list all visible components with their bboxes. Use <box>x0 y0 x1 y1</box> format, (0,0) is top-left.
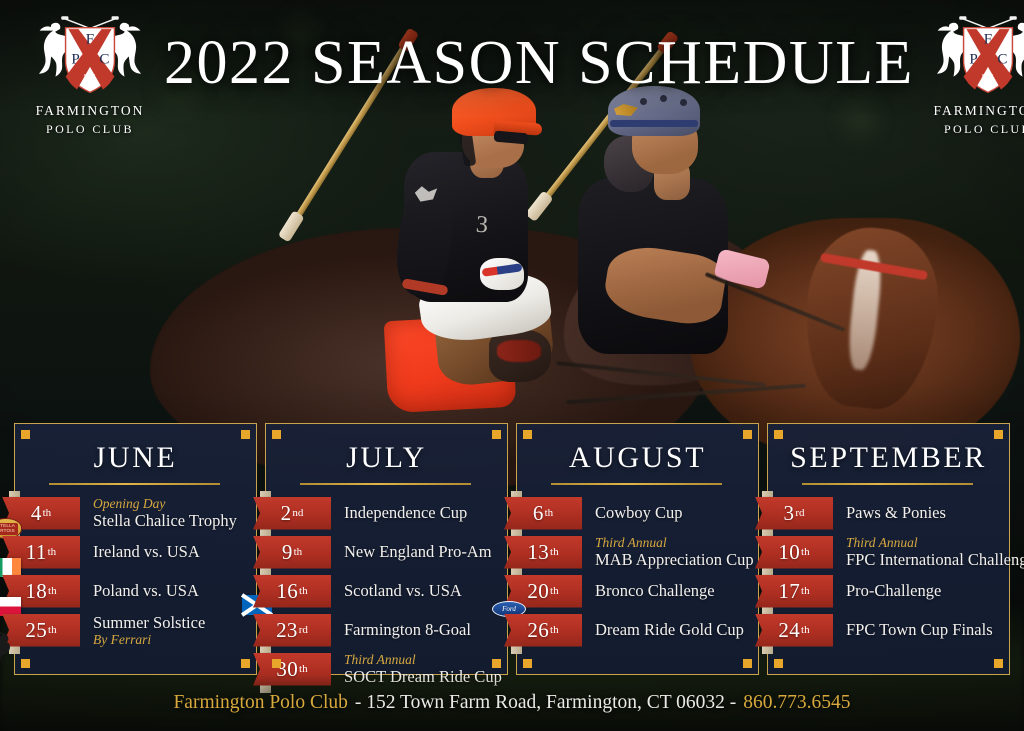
event-row[interactable]: 10thThird AnnualFPC International Challe… <box>768 534 999 570</box>
event-text: Independence Cup <box>331 503 467 522</box>
event-row[interactable]: Ford20thBronco Challenge <box>517 573 748 609</box>
corner-stud-icon <box>272 659 281 668</box>
event-row[interactable]: 3rdPaws & Ponies <box>768 495 999 531</box>
date-ordinal: th <box>43 508 52 519</box>
event-text: Opening DayStella Chalice Trophy <box>80 496 237 531</box>
corner-stud-icon <box>241 430 250 439</box>
event-row[interactable]: 16thScotland vs. USA <box>266 573 497 609</box>
event-text: Pro-Challenge <box>833 581 941 600</box>
date-ordinal: rd <box>299 625 308 636</box>
event-row[interactable]: 17thPro-Challenge <box>768 573 999 609</box>
date-ordinal: th <box>801 547 810 558</box>
date-badge: 26th <box>504 614 582 647</box>
event-text: New England Pro-Am <box>331 542 492 561</box>
date-ordinal: th <box>299 664 308 675</box>
event-row[interactable]: 24thFPC Town Cup Finals <box>768 612 999 648</box>
corner-stud-icon <box>774 659 783 668</box>
fpc-shield-icon: F P C EST 1929 <box>16 9 164 101</box>
event-row[interactable]: 18thPoland vs. USA <box>15 573 246 609</box>
event-row[interactable]: 25thSummer SolsticeBy Ferrari <box>15 612 246 648</box>
date-ordinal: th <box>801 586 810 597</box>
date-badge: 16th <box>253 575 331 608</box>
date-badge: 6th <box>504 497 582 530</box>
date-day: 16 <box>276 581 298 602</box>
event-list: 2ndIndependence Cup9thNew England Pro-Am… <box>266 495 497 687</box>
svg-text:P: P <box>71 52 79 68</box>
footer-club-name: Farmington Polo Club <box>173 692 347 714</box>
event-annual-label: Third Annual <box>846 535 999 550</box>
poster-header: F P C EST 1929 FARMINGTON POLO CLUB 2022… <box>0 0 1024 142</box>
event-row[interactable]: 9thNew England Pro-Am <box>266 534 497 570</box>
date-day: 10 <box>778 542 800 563</box>
event-title: Poland vs. USA <box>93 581 199 600</box>
date-day: 18 <box>25 581 47 602</box>
event-row[interactable]: STELLA ARTOIS4thOpening DayStella Chalic… <box>15 495 246 531</box>
date-day: 6 <box>533 503 544 524</box>
logo-wordmark: FARMINGTON POLO CLUB <box>16 102 164 137</box>
logo-name-line1: FARMINGTON <box>934 103 1024 118</box>
event-title: Cowboy Cup <box>595 503 683 522</box>
event-row[interactable]: 6thCowboy Cup <box>517 495 748 531</box>
date-badge: 23rd <box>253 614 331 647</box>
event-text: Scotland vs. USA <box>331 581 462 600</box>
date-day: 20 <box>527 581 549 602</box>
event-row[interactable]: 26thDream Ride Gold Cup <box>517 612 748 648</box>
corner-stud-icon <box>743 659 752 668</box>
event-text: Poland vs. USA <box>80 581 199 600</box>
event-row[interactable]: 11thIreland vs. USA <box>15 534 246 570</box>
corner-stud-icon <box>241 659 250 668</box>
event-title: Paws & Ponies <box>846 503 946 522</box>
event-title: FPC International Challenge <box>846 550 999 569</box>
event-title: Ireland vs. USA <box>93 542 200 561</box>
corner-stud-icon <box>523 430 532 439</box>
event-annual-label: Third Annual <box>595 535 748 550</box>
date-badge: 3rd <box>755 497 833 530</box>
event-annual-label: Opening Day <box>93 496 237 511</box>
corner-stud-icon <box>743 430 752 439</box>
date-ordinal: th <box>48 625 57 636</box>
logo-left: F P C EST 1929 FARMINGTON POLO CLUB <box>16 9 164 133</box>
date-day: 3 <box>784 503 795 524</box>
date-badge: 9th <box>253 536 331 569</box>
event-title: Pro-Challenge <box>846 581 941 600</box>
event-text: Dream Ride Gold Cup <box>582 620 744 639</box>
date-ordinal: th <box>48 547 57 558</box>
month-divider <box>551 483 722 485</box>
event-text: Ireland vs. USA <box>80 542 200 561</box>
date-badge: 13th <box>504 536 582 569</box>
corner-stud-icon <box>523 659 532 668</box>
logo-wordmark: FARMINGTON POLO CLUB <box>914 102 1024 137</box>
event-row[interactable]: 13thThird AnnualMAB Appreciation Cup <box>517 534 748 570</box>
event-title: Farmington 8-Goal <box>344 620 471 639</box>
event-annual-label: Third Annual <box>344 652 497 667</box>
svg-text:1929: 1929 <box>81 80 98 87</box>
month-heading: SEPTEMBER <box>768 434 999 473</box>
event-title: Independence Cup <box>344 503 467 522</box>
event-title: Summer Solstice <box>93 613 205 632</box>
event-row[interactable]: 2ndIndependence Cup <box>266 495 497 531</box>
event-title: MAB Appreciation Cup <box>595 550 748 569</box>
event-text: Third AnnualMAB Appreciation Cup <box>582 535 748 570</box>
corner-stud-icon <box>21 659 30 668</box>
svg-text:EST: EST <box>84 74 96 80</box>
month-heading: AUGUST <box>517 434 748 473</box>
date-badge: 17th <box>755 575 833 608</box>
corner-stud-icon <box>492 659 501 668</box>
corner-stud-icon <box>492 430 501 439</box>
event-text: Summer SolsticeBy Ferrari <box>80 613 205 648</box>
month-divider <box>300 483 471 485</box>
event-list: STELLA ARTOIS4thOpening DayStella Chalic… <box>15 495 246 648</box>
event-text: Bronco Challenge <box>582 581 715 600</box>
event-text: Cowboy Cup <box>582 503 683 522</box>
date-ordinal: th <box>801 625 810 636</box>
ferrari-logo-icon <box>0 630 15 660</box>
svg-text:C: C <box>99 52 109 68</box>
date-day: 13 <box>527 542 549 563</box>
logo-name-line1: FARMINGTON <box>36 103 145 118</box>
svg-text:F: F <box>984 32 992 48</box>
month-divider <box>802 483 973 485</box>
date-day: 25 <box>25 620 47 641</box>
date-day: 11 <box>26 542 47 563</box>
month-heading: JULY <box>266 434 497 473</box>
logo-name-line2: POLO CLUB <box>914 121 1024 138</box>
date-day: 23 <box>276 620 298 641</box>
event-row[interactable]: 23rdFarmington 8-Goal <box>266 612 497 648</box>
date-ordinal: th <box>299 586 308 597</box>
event-text: Paws & Ponies <box>833 503 946 522</box>
logo-name-line2: POLO CLUB <box>16 121 164 138</box>
footer-address: - 152 Town Farm Road, Farmington, CT 060… <box>355 692 736 714</box>
event-list: 6thCowboy Cup13thThird AnnualMAB Appreci… <box>517 495 748 648</box>
date-ordinal: th <box>550 625 559 636</box>
date-day: 26 <box>527 620 549 641</box>
date-ordinal: nd <box>292 508 303 519</box>
fpc-shield-icon: F P C EST 1929 <box>914 9 1024 101</box>
event-subtitle: By Ferrari <box>93 632 205 647</box>
month-heading: JUNE <box>15 434 246 473</box>
date-day: 24 <box>778 620 800 641</box>
svg-text:C: C <box>997 52 1007 68</box>
event-title: FPC Town Cup Finals <box>846 620 993 639</box>
event-list: 3rdPaws & Ponies10thThird AnnualFPC Inte… <box>768 495 999 648</box>
schedule-panels: JUNESTELLA ARTOIS4thOpening DayStella Ch… <box>14 423 1010 675</box>
corner-stud-icon <box>994 430 1003 439</box>
date-ordinal: th <box>550 547 559 558</box>
svg-text:EST: EST <box>982 74 994 80</box>
date-badge: 10th <box>755 536 833 569</box>
svg-text:F: F <box>86 32 94 48</box>
footer-phone[interactable]: 860.773.6545 <box>743 692 850 714</box>
month-panel-september: SEPTEMBER3rdPaws & Ponies10thThird Annua… <box>767 423 1010 675</box>
corner-stud-icon <box>994 659 1003 668</box>
date-day: 17 <box>778 581 800 602</box>
logo-right: F P C EST 1929 FARMINGTON POLO CLUB <box>914 9 1024 133</box>
event-title: Dream Ride Gold Cup <box>595 620 744 639</box>
date-ordinal: th <box>48 586 57 597</box>
month-panel-august: AUGUST6thCowboy Cup13thThird AnnualMAB A… <box>516 423 759 675</box>
page-title: 2022 SEASON SCHEDULE <box>164 32 914 110</box>
event-text: Farmington 8-Goal <box>331 620 471 639</box>
date-badge: 24th <box>755 614 833 647</box>
corner-stud-icon <box>21 430 30 439</box>
date-badge: 2nd <box>253 497 331 530</box>
event-text: FPC Town Cup Finals <box>833 620 993 639</box>
event-title: New England Pro-Am <box>344 542 492 561</box>
month-panel-july: JULY2ndIndependence Cup9thNew England Pr… <box>265 423 508 675</box>
svg-text:1929: 1929 <box>979 80 996 87</box>
date-day: 2 <box>281 503 292 524</box>
footer-contact: Farmington Polo Club - 152 Town Farm Roa… <box>0 675 1024 731</box>
corner-stud-icon <box>272 430 281 439</box>
season-schedule-poster: 3 <box>0 0 1024 731</box>
date-day: 4 <box>31 503 42 524</box>
month-panel-june: JUNESTELLA ARTOIS4thOpening DayStella Ch… <box>14 423 257 675</box>
event-title: Scotland vs. USA <box>344 581 462 600</box>
date-day: 9 <box>282 542 293 563</box>
date-ordinal: th <box>550 586 559 597</box>
date-ordinal: rd <box>795 508 804 519</box>
event-text: Third AnnualFPC International Challenge <box>833 535 999 570</box>
date-ordinal: th <box>545 508 554 519</box>
svg-text:P: P <box>969 52 977 68</box>
month-divider <box>49 483 220 485</box>
event-title: Bronco Challenge <box>595 581 715 600</box>
corner-stud-icon <box>774 430 783 439</box>
date-ordinal: th <box>294 547 303 558</box>
event-title: Stella Chalice Trophy <box>93 511 237 530</box>
